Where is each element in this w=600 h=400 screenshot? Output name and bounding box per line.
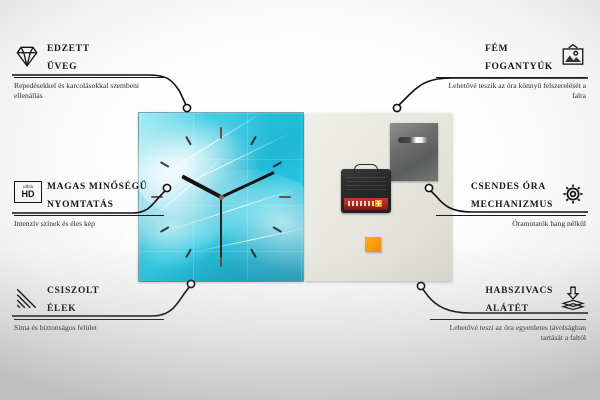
divider: [436, 77, 586, 78]
divider: [436, 215, 586, 216]
callout-title: HABSZIVACS ALÁTÉT: [485, 280, 553, 316]
callout-title: CSENDES ÓRA MECHANIZMUS: [471, 176, 553, 212]
picture-hanger-icon: [560, 43, 586, 69]
callout-subtitle: Intenzív színek és éles kép: [14, 219, 164, 229]
clock-mechanism-box: [341, 169, 391, 213]
callout-subtitle: Repedésekkel és karcolásokkal szembeni e…: [14, 81, 164, 102]
callout-title: EDZETT ÜVEG: [47, 38, 90, 74]
callout-subtitle: Óramutatók hang nélkül: [436, 219, 586, 229]
mechanism-detail: [346, 177, 386, 193]
hanger-slot: [398, 137, 428, 143]
product-photo: [139, 113, 452, 281]
callout-silent-mechanism: CSENDES ÓRA MECHANIZMUS Óramutatók hang …: [436, 176, 586, 229]
callout-header: FÉM FOGANTYÚK: [436, 38, 586, 74]
gear-icon: [560, 181, 586, 207]
divider: [14, 319, 164, 320]
callout-subtitle: Lehetővé teszi az óra egyenletes távolsá…: [430, 323, 586, 344]
clock-back-panel: [305, 113, 452, 281]
callout-title: FÉM FOGANTYÚK: [485, 38, 553, 74]
foam-pad-sample: [365, 237, 381, 252]
callout-foam-pad: HABSZIVACS ALÁTÉT Lehetővé teszi az óra …: [430, 280, 586, 344]
mechanism-hook: [354, 164, 378, 173]
callout-header: CSISZOLT ÉLEK: [14, 280, 164, 316]
callout-header: CSENDES ÓRA MECHANIZMUS: [436, 176, 586, 212]
callout-tempered-glass: EDZETT ÜVEG Repedésekkel és karcolásokka…: [14, 38, 164, 102]
callout-header: EDZETT ÜVEG: [14, 38, 164, 74]
callout-high-quality-print: ultra HD MAGAS MINŐSÉGŰ NYOMTATÁS Intenz…: [14, 176, 164, 229]
foam-pad-icon: [560, 285, 586, 311]
ultra-hd-icon: ultra HD: [14, 181, 40, 207]
connector-endpoint: [417, 282, 424, 289]
battery: [344, 198, 388, 210]
callout-subtitle: Lehetővé teszik az óra könnyű felszerelé…: [436, 81, 586, 102]
divider: [14, 215, 164, 216]
divider: [14, 77, 164, 78]
connector-endpoint: [187, 280, 194, 287]
callout-metal-handles: FÉM FOGANTYÚK Lehetővé teszik az óra kön…: [436, 38, 586, 102]
callout-header: HABSZIVACS ALÁTÉT: [430, 280, 586, 316]
battery-label: [348, 201, 376, 206]
infographic-canvas: EDZETT ÜVEG Repedésekkel és karcolásokka…: [0, 0, 600, 400]
callout-title: MAGAS MINŐSÉGŰ NYOMTATÁS: [47, 176, 147, 212]
callout-polished-edges: CSISZOLT ÉLEK Sima és biztonságos felüle…: [14, 280, 164, 333]
connector-endpoint: [393, 104, 400, 111]
diamond-icon: [14, 43, 40, 69]
divider: [430, 319, 586, 320]
callout-subtitle: Sima és biztonságos felület: [14, 323, 164, 333]
clock-center-pin: [219, 195, 224, 200]
polished-edges-icon: [14, 285, 40, 311]
callout-title: CSISZOLT ÉLEK: [47, 280, 99, 316]
callout-header: ultra HD MAGAS MINŐSÉGŰ NYOMTATÁS: [14, 176, 164, 212]
battery-plus-terminal: [375, 200, 382, 207]
metal-hanger-plate: [390, 123, 438, 181]
clock-second-hand: [220, 197, 222, 257]
